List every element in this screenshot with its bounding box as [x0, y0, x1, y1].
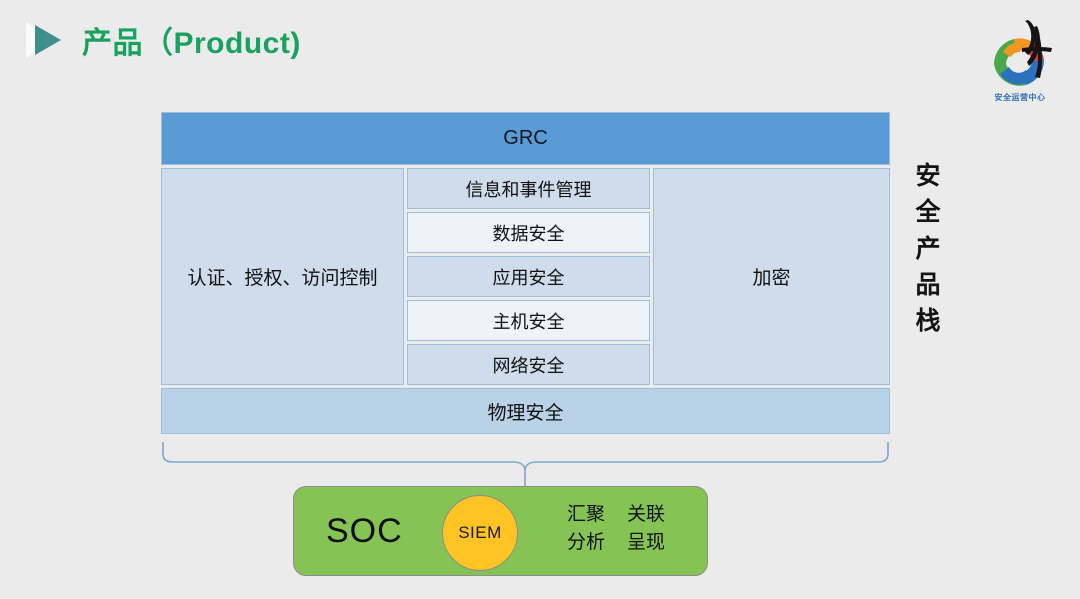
physical-security-band: 物理安全: [161, 388, 890, 434]
soc-keyword-column-2: 关联 呈现: [627, 501, 665, 556]
bracket-connector: [161, 440, 890, 488]
soc-label: SOC: [326, 512, 403, 551]
vertical-label-char-4: 品: [908, 267, 948, 303]
stack-vertical-label: 安 全 产 品 栈: [908, 158, 948, 339]
vertical-label-char-5: 栈: [908, 303, 948, 339]
vertical-label-char-3: 产: [908, 231, 948, 267]
siem-circle: SIEM: [442, 495, 518, 571]
play-triangle-fill: [35, 25, 61, 55]
layer-cell-network-security: 网络安全: [407, 344, 650, 385]
soc-keyword-aggregate: 汇聚: [567, 501, 605, 529]
security-layers-column: 信息和事件管理 数据安全 应用安全 主机安全 网络安全: [407, 168, 650, 385]
layer-cell-incident-management: 信息和事件管理: [407, 168, 650, 209]
soc-keyword-correlation: 关联: [627, 501, 665, 529]
soc-keyword-presentation: 呈现: [627, 529, 665, 557]
access-control-column: 认证、授权、访问控制: [161, 168, 404, 385]
layer-cell-host-security: 主机安全: [407, 300, 650, 341]
security-product-stack: GRC 认证、授权、访问控制 信息和事件管理 数据安全 应用安全 主机安全 网络…: [161, 112, 890, 434]
grc-band: GRC: [161, 112, 890, 165]
soc-keyword-group: 汇聚 分析 关联 呈现: [567, 501, 665, 556]
soc-keyword-column-1: 汇聚 分析: [567, 501, 605, 556]
layer-cell-data-security: 数据安全: [407, 212, 650, 253]
brand-logo-mark: [982, 8, 1058, 98]
encryption-column: 加密: [653, 168, 890, 385]
play-triangle-icon: [26, 20, 72, 60]
slide-title-row: 产品（Product): [26, 16, 301, 64]
brand-logo: 安全运营中心: [982, 8, 1058, 112]
brand-logo-caption: 安全运营中心: [982, 92, 1058, 103]
vertical-label-char-2: 全: [908, 194, 948, 230]
stack-middle-row: 认证、授权、访问控制 信息和事件管理 数据安全 应用安全 主机安全 网络安全 加…: [161, 168, 890, 385]
soc-box: SOC SIEM 汇聚 分析 关联 呈现: [293, 486, 708, 576]
page-title: 产品（Product): [82, 18, 301, 62]
soc-keyword-analysis: 分析: [567, 529, 605, 557]
layer-cell-application-security: 应用安全: [407, 256, 650, 297]
vertical-label-char-1: 安: [908, 158, 948, 194]
